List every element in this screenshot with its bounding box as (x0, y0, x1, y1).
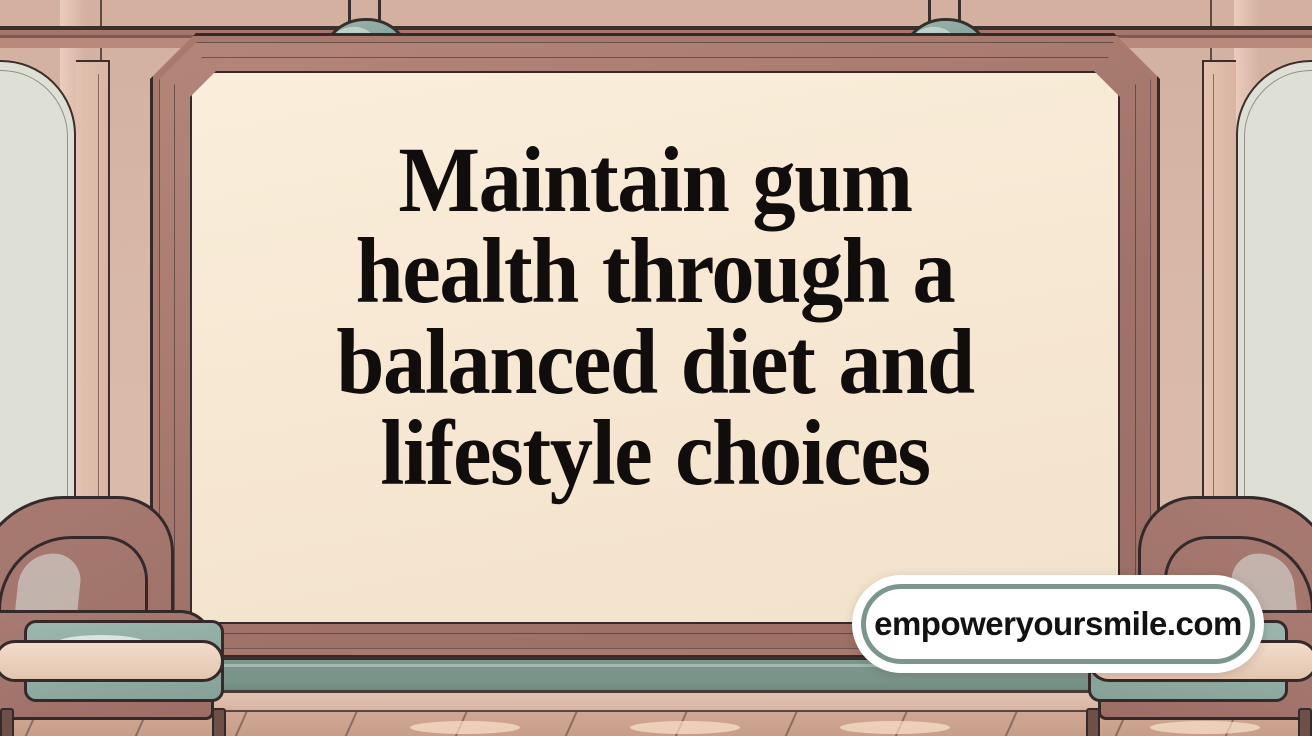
armchair-leg (0, 708, 14, 736)
headline-line-1: Maintain gum (269, 135, 1041, 226)
poster-scene: Maintain gum health through a balanced d… (0, 0, 1312, 736)
arched-window-icon (0, 60, 76, 560)
headline-line-3: balanced diet and (269, 317, 1041, 408)
website-url-text: empoweryoursmile.com (874, 605, 1242, 643)
arched-window-icon (1236, 60, 1312, 560)
page-title: Maintain gum health through a balanced d… (269, 135, 1041, 500)
website-badge-border: empoweryoursmile.com (861, 584, 1255, 664)
board-face: Maintain gum health through a balanced d… (190, 71, 1120, 624)
armchair-leg (212, 708, 226, 736)
headline-line-2: health through a (269, 226, 1041, 317)
headline-line-4: lifestyle choices (269, 408, 1041, 499)
message-board: Maintain gum health through a balanced d… (150, 33, 1160, 658)
armchair-leg (1298, 708, 1312, 736)
arch-jamb (76, 60, 110, 560)
website-badge[interactable]: empoweryoursmile.com (852, 575, 1264, 673)
armchair-leg (1086, 708, 1100, 736)
armchair-arm (0, 640, 224, 682)
arch-jamb (1202, 60, 1236, 560)
